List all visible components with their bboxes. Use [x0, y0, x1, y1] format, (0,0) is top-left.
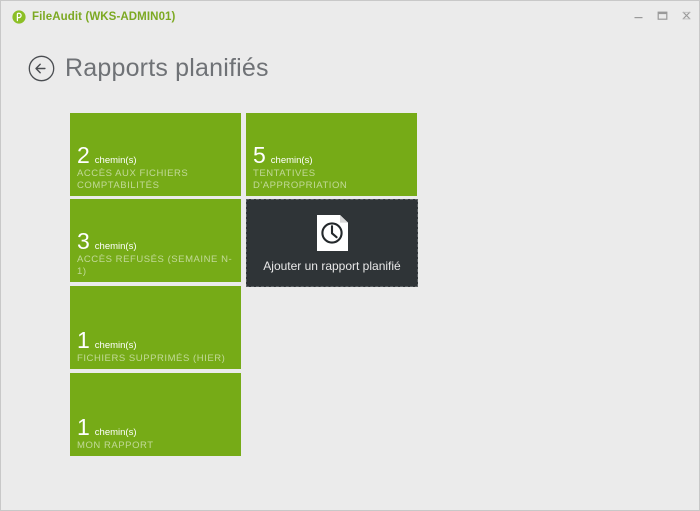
scheduled-reports-tile-grid: 2 chemin(s) ACCÈS AUX FICHIERS COMPTABIL…: [70, 113, 430, 463]
close-icon[interactable]: [680, 9, 693, 22]
report-tile[interactable]: 1 chemin(s) MON RAPPORT: [70, 373, 241, 456]
report-tile[interactable]: 1 chemin(s) FICHIERS SUPPRIMÉS (HIER): [70, 286, 241, 369]
report-tile-unit: chemin(s): [271, 155, 313, 166]
report-tile-body: 5 chemin(s) TENTATIVES D'APPROPRIATION: [253, 144, 412, 191]
report-tile-unit: chemin(s): [95, 427, 137, 438]
report-tile-body: 1 chemin(s) MON RAPPORT: [77, 416, 236, 452]
report-tile-name: TENTATIVES D'APPROPRIATION: [253, 168, 412, 191]
report-tile-count: 1: [77, 329, 90, 352]
app-title: FileAudit (WKS-ADMIN01): [32, 10, 175, 24]
report-tile[interactable]: 5 chemin(s) TENTATIVES D'APPROPRIATION: [246, 113, 417, 196]
report-tile-count: 3: [77, 230, 90, 253]
report-tile[interactable]: 3 chemin(s) ACCÈS REFUSÉS (SEMAINE N-1): [70, 199, 241, 282]
report-tile-count-row: 5 chemin(s): [253, 144, 412, 167]
add-scheduled-report-label: Ajouter un rapport planifié: [263, 259, 400, 273]
report-tile-body: 2 chemin(s) ACCÈS AUX FICHIERS COMPTABIL…: [77, 144, 236, 191]
report-tile[interactable]: 2 chemin(s) ACCÈS AUX FICHIERS COMPTABIL…: [70, 113, 241, 196]
add-scheduled-report-tile[interactable]: Ajouter un rapport planifié: [246, 199, 418, 287]
report-tile-count-row: 1 chemin(s): [77, 416, 236, 439]
report-tile-count: 2: [77, 144, 90, 167]
maximize-icon[interactable]: [656, 9, 669, 22]
title-bar-identity: FileAudit (WKS-ADMIN01): [12, 10, 175, 24]
report-tile-name: ACCÈS AUX FICHIERS COMPTABILITÉS: [77, 168, 236, 191]
scheduled-report-clock-icon: [316, 214, 349, 252]
report-tile-count-row: 3 chemin(s): [77, 230, 236, 253]
report-tile-unit: chemin(s): [95, 340, 137, 351]
minimize-icon[interactable]: [632, 9, 645, 22]
application-window: FileAudit (WKS-ADMIN01): [0, 0, 700, 511]
report-tile-unit: chemin(s): [95, 241, 137, 252]
report-tile-count: 5: [253, 144, 266, 167]
report-tile-name: FICHIERS SUPPRIMÉS (HIER): [77, 353, 236, 365]
page-header: Rapports planifiés: [28, 53, 269, 83]
fileaudit-logo-icon: [12, 10, 26, 24]
report-tile-name: MON RAPPORT: [77, 440, 236, 452]
report-tile-count-row: 1 chemin(s): [77, 329, 236, 352]
title-bar: FileAudit (WKS-ADMIN01): [1, 1, 700, 34]
window-controls: [632, 9, 693, 22]
report-tile-body: 1 chemin(s) FICHIERS SUPPRIMÉS (HIER): [77, 329, 236, 365]
report-tile-count-row: 2 chemin(s): [77, 144, 236, 167]
report-tile-name: ACCÈS REFUSÉS (SEMAINE N-1): [77, 254, 236, 277]
report-tile-unit: chemin(s): [95, 155, 137, 166]
back-arrow-icon[interactable]: [28, 55, 55, 82]
report-tile-count: 1: [77, 416, 90, 439]
page-title: Rapports planifiés: [65, 53, 269, 83]
report-tile-body: 3 chemin(s) ACCÈS REFUSÉS (SEMAINE N-1): [77, 230, 236, 277]
